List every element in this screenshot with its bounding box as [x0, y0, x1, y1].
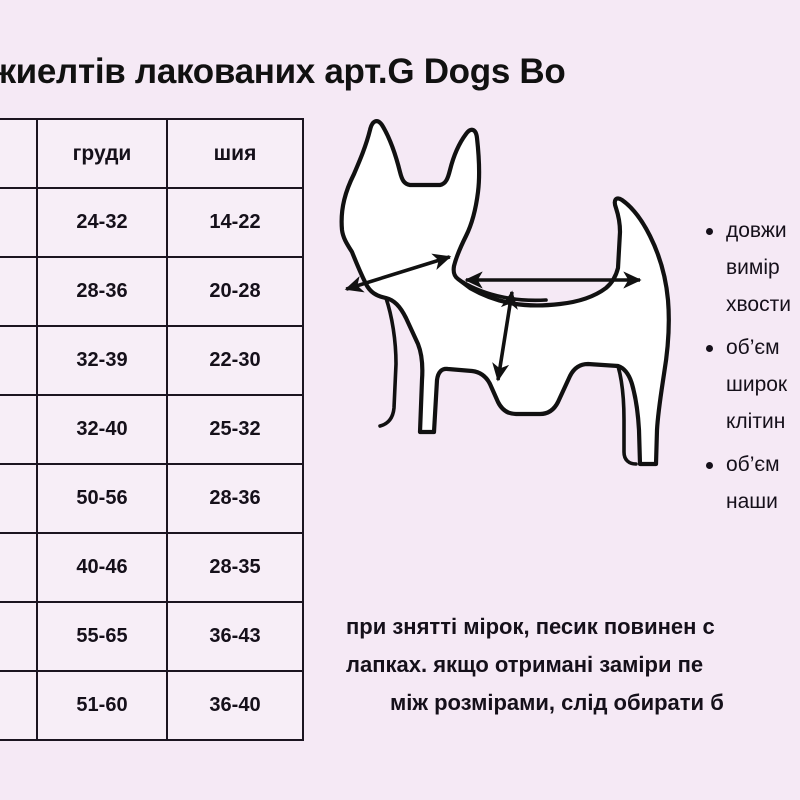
size-chart-canvas: іри жиелтів лакованих арт.G Dogs Bo а гр… — [0, 0, 800, 800]
note-line: наши — [726, 483, 800, 520]
note-line: клітин — [726, 403, 800, 440]
cell-neck: 36-40 — [167, 671, 303, 740]
note-line: об’єм — [726, 329, 800, 366]
cell-chest: 50-56 — [37, 464, 167, 533]
cell-neck: 28-36 — [167, 464, 303, 533]
note-line: широк — [726, 366, 800, 403]
table-row: 32-3922-30 — [0, 326, 303, 395]
size-table-container: а груди шия 24-3214-2228-3620-2832-3922-… — [0, 118, 302, 741]
cell-weight — [0, 671, 37, 740]
cell-chest: 24-32 — [37, 188, 167, 257]
column-header-chest: груди — [37, 119, 167, 188]
note-item: об’ємнаши — [700, 446, 800, 520]
table-row: 24-3214-22 — [0, 188, 303, 257]
cell-chest: 51-60 — [37, 671, 167, 740]
dog-measurement-diagram — [330, 112, 700, 512]
table-row: 28-3620-28 — [0, 257, 303, 326]
dog-body-path — [342, 121, 669, 464]
dog-outline-svg — [330, 112, 700, 512]
cell-neck: 25-32 — [167, 395, 303, 464]
measurement-notes: довживимірхвостиоб’ємширокклітиноб’ємнаш… — [700, 212, 800, 526]
cell-weight — [0, 326, 37, 395]
size-chart-table: а груди шия 24-3214-2228-3620-2832-3922-… — [0, 118, 304, 741]
note-line: хвости — [726, 286, 800, 323]
cell-neck: 28-35 — [167, 533, 303, 602]
cell-neck: 36-43 — [167, 602, 303, 671]
table-row: 50-5628-36 — [0, 464, 303, 533]
cell-weight — [0, 464, 37, 533]
dog-front-leg-line — [380, 298, 396, 426]
fitting-instructions-line-2: лапках. якщо отримані заміри пе — [346, 646, 800, 684]
table-row: 51-6036-40 — [0, 671, 303, 740]
table-row: 32-4025-32 — [0, 395, 303, 464]
cell-chest: 32-40 — [37, 395, 167, 464]
fitting-instructions-line-1: при знятті мірок, песик повинен с — [346, 608, 800, 646]
cell-weight — [0, 602, 37, 671]
cell-weight — [0, 188, 37, 257]
table-header-row: а груди шия — [0, 119, 303, 188]
fitting-instructions: при знятті мірок, песик повинен с лапках… — [346, 608, 800, 722]
cell-neck: 22-30 — [167, 326, 303, 395]
note-line: вимір — [726, 249, 800, 286]
note-line: довжи — [726, 212, 800, 249]
table-row: 55-6536-43 — [0, 602, 303, 671]
cell-weight — [0, 533, 37, 602]
column-header-weight: а — [0, 119, 37, 188]
cell-chest: 32-39 — [37, 326, 167, 395]
cell-weight — [0, 257, 37, 326]
note-line: об’єм — [726, 446, 800, 483]
cell-neck: 20-28 — [167, 257, 303, 326]
cell-neck: 14-22 — [167, 188, 303, 257]
cell-chest: 28-36 — [37, 257, 167, 326]
cell-weight — [0, 395, 37, 464]
note-item: об’ємширокклітин — [700, 329, 800, 440]
cell-chest: 40-46 — [37, 533, 167, 602]
table-row: 40-4628-35 — [0, 533, 303, 602]
fitting-instructions-line-3: між розмірами, слід обирати б — [346, 684, 800, 722]
column-header-neck: шия — [167, 119, 303, 188]
note-item: довживимірхвости — [700, 212, 800, 323]
cell-chest: 55-65 — [37, 602, 167, 671]
page-title: іри жиелтів лакованих арт.G Dogs Bo — [0, 52, 800, 92]
